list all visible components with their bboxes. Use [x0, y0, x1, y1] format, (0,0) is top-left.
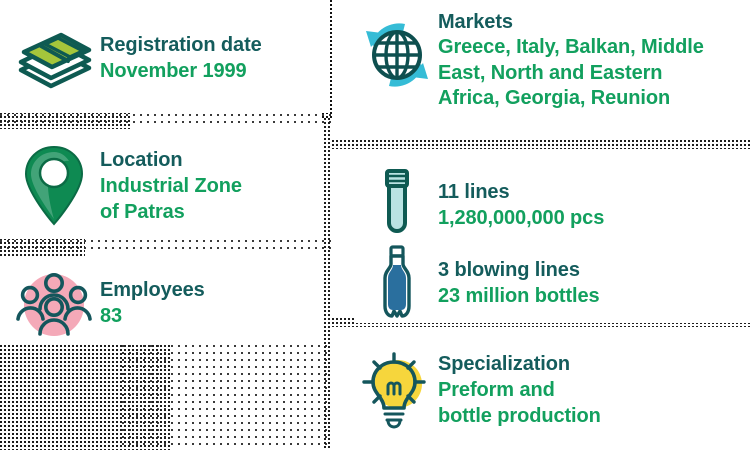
background-texture-strip-mid-right	[0, 240, 332, 254]
column-divider-vertical-lower	[324, 118, 332, 450]
background-texture-lower-left-sparse	[122, 345, 332, 450]
card-specialization-text: Specialization Preform and bottle produc…	[438, 352, 601, 429]
card-specialization-value: Preform and bottle production	[438, 377, 601, 429]
right-divider-1	[332, 140, 750, 149]
card-preform-lines-text: 11 lines 1,280,000,000 pcs	[438, 180, 604, 231]
card-employees-value: 83	[100, 303, 205, 329]
people-group-icon	[8, 265, 100, 341]
card-employees-text: Employees 83	[100, 278, 205, 329]
card-location-value: Industrial Zone of Patras	[100, 173, 242, 225]
card-preform-lines-title: 11 lines	[438, 180, 604, 205]
map-pin-icon	[8, 143, 100, 229]
card-location-title: Location	[100, 148, 242, 173]
card-registration-date-title: Registration date	[100, 33, 262, 58]
card-markets-value: Greece, Italy, Balkan, Middle East, Nort…	[438, 35, 704, 112]
card-markets-text: Markets Greece, Italy, Balkan, Middle Ea…	[438, 8, 704, 112]
background-texture-strip-top-right	[0, 114, 332, 128]
card-specialization-title: Specialization	[438, 352, 601, 377]
card-preform-lines[interactable]: 11 lines 1,280,000,000 pcs	[356, 165, 750, 245]
card-blowing-lines-title: 3 blowing lines	[438, 258, 600, 283]
preform-tube-icon	[356, 165, 438, 245]
card-markets[interactable]: Markets Greece, Italy, Balkan, Middle Ea…	[356, 8, 750, 130]
money-stack-icon	[8, 21, 100, 95]
card-preform-lines-value: 1,280,000,000 pcs	[438, 205, 604, 231]
card-employees-title: Employees	[100, 278, 205, 303]
card-employees[interactable]: Employees 83	[8, 262, 320, 344]
card-registration-date-text: Registration date November 1999	[100, 33, 262, 84]
card-specialization[interactable]: Specialization Preform and bottle produc…	[350, 340, 750, 440]
plastic-bottle-icon	[356, 243, 438, 323]
card-registration-date-value: November 1999	[100, 58, 262, 84]
card-markets-title: Markets	[438, 10, 704, 35]
card-blowing-lines-text: 3 blowing lines 23 million bottles	[438, 258, 600, 309]
lightbulb-icon	[350, 346, 438, 434]
globe-arrows-icon	[356, 12, 438, 98]
card-location[interactable]: Location Industrial Zone of Patras	[8, 140, 320, 232]
card-location-text: Location Industrial Zone of Patras	[100, 148, 242, 225]
card-registration-date[interactable]: Registration date November 1999	[8, 10, 326, 106]
card-blowing-lines[interactable]: 3 blowing lines 23 million bottles	[356, 243, 750, 323]
card-blowing-lines-value: 23 million bottles	[438, 283, 600, 309]
